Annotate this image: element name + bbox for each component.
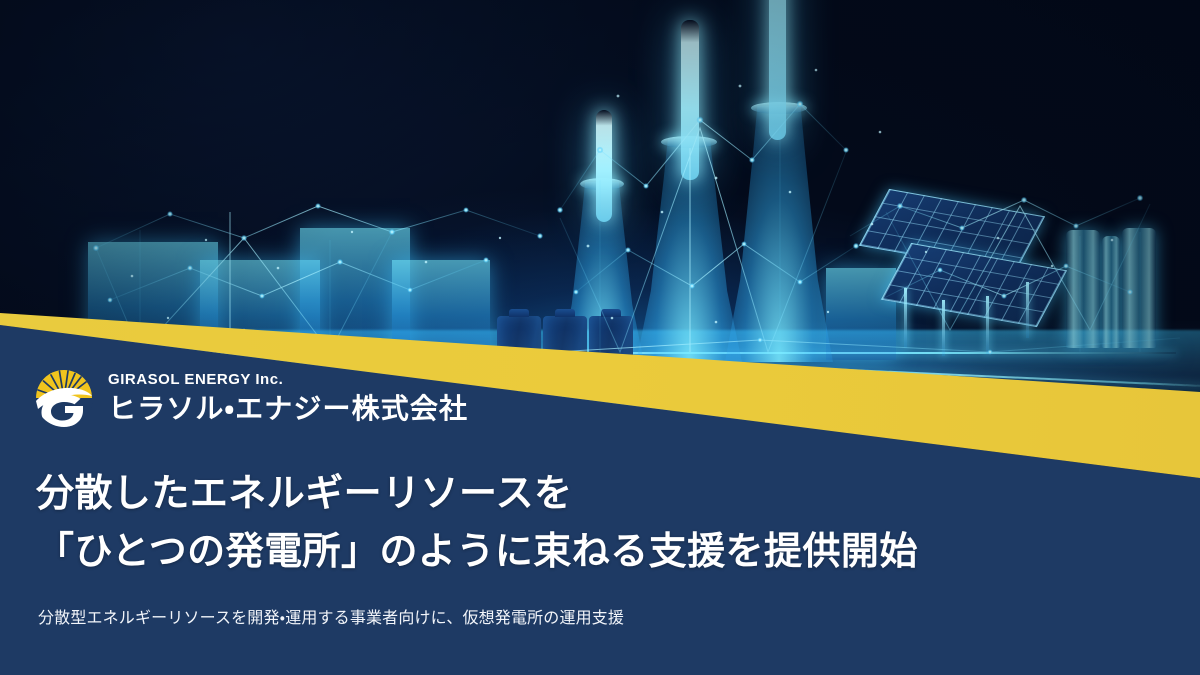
girasol-logo-icon <box>34 368 94 428</box>
subheadline: 分散型エネルギーリソースを開発・運用する事業者向けに、仮想発電所の運用支援 <box>38 607 624 631</box>
brand-lockup: GIRASOL ENERGY Inc. ヒラソル・エナジー株式会社 <box>34 368 468 428</box>
press-release-banner: GIRASOL ENERGY Inc. ヒラソル・エナジー株式会社 分散したエネ… <box>0 0 1200 675</box>
brand-text: GIRASOL ENERGY Inc. ヒラソル・エナジー株式会社 <box>108 371 468 424</box>
brand-name-ja: ヒラソル・エナジー株式会社 <box>108 393 468 424</box>
brand-name-en: GIRASOL ENERGY Inc. <box>108 371 468 389</box>
headline: 分散したエネルギーリソースを 「ひとつの発電所」のように束ねる支援を提供開始 <box>36 466 918 582</box>
headline-line-2: 「ひとつの発電所」のように束ねる支援を提供開始 <box>36 524 918 582</box>
headline-line-1: 分散したエネルギーリソースを <box>36 466 918 524</box>
